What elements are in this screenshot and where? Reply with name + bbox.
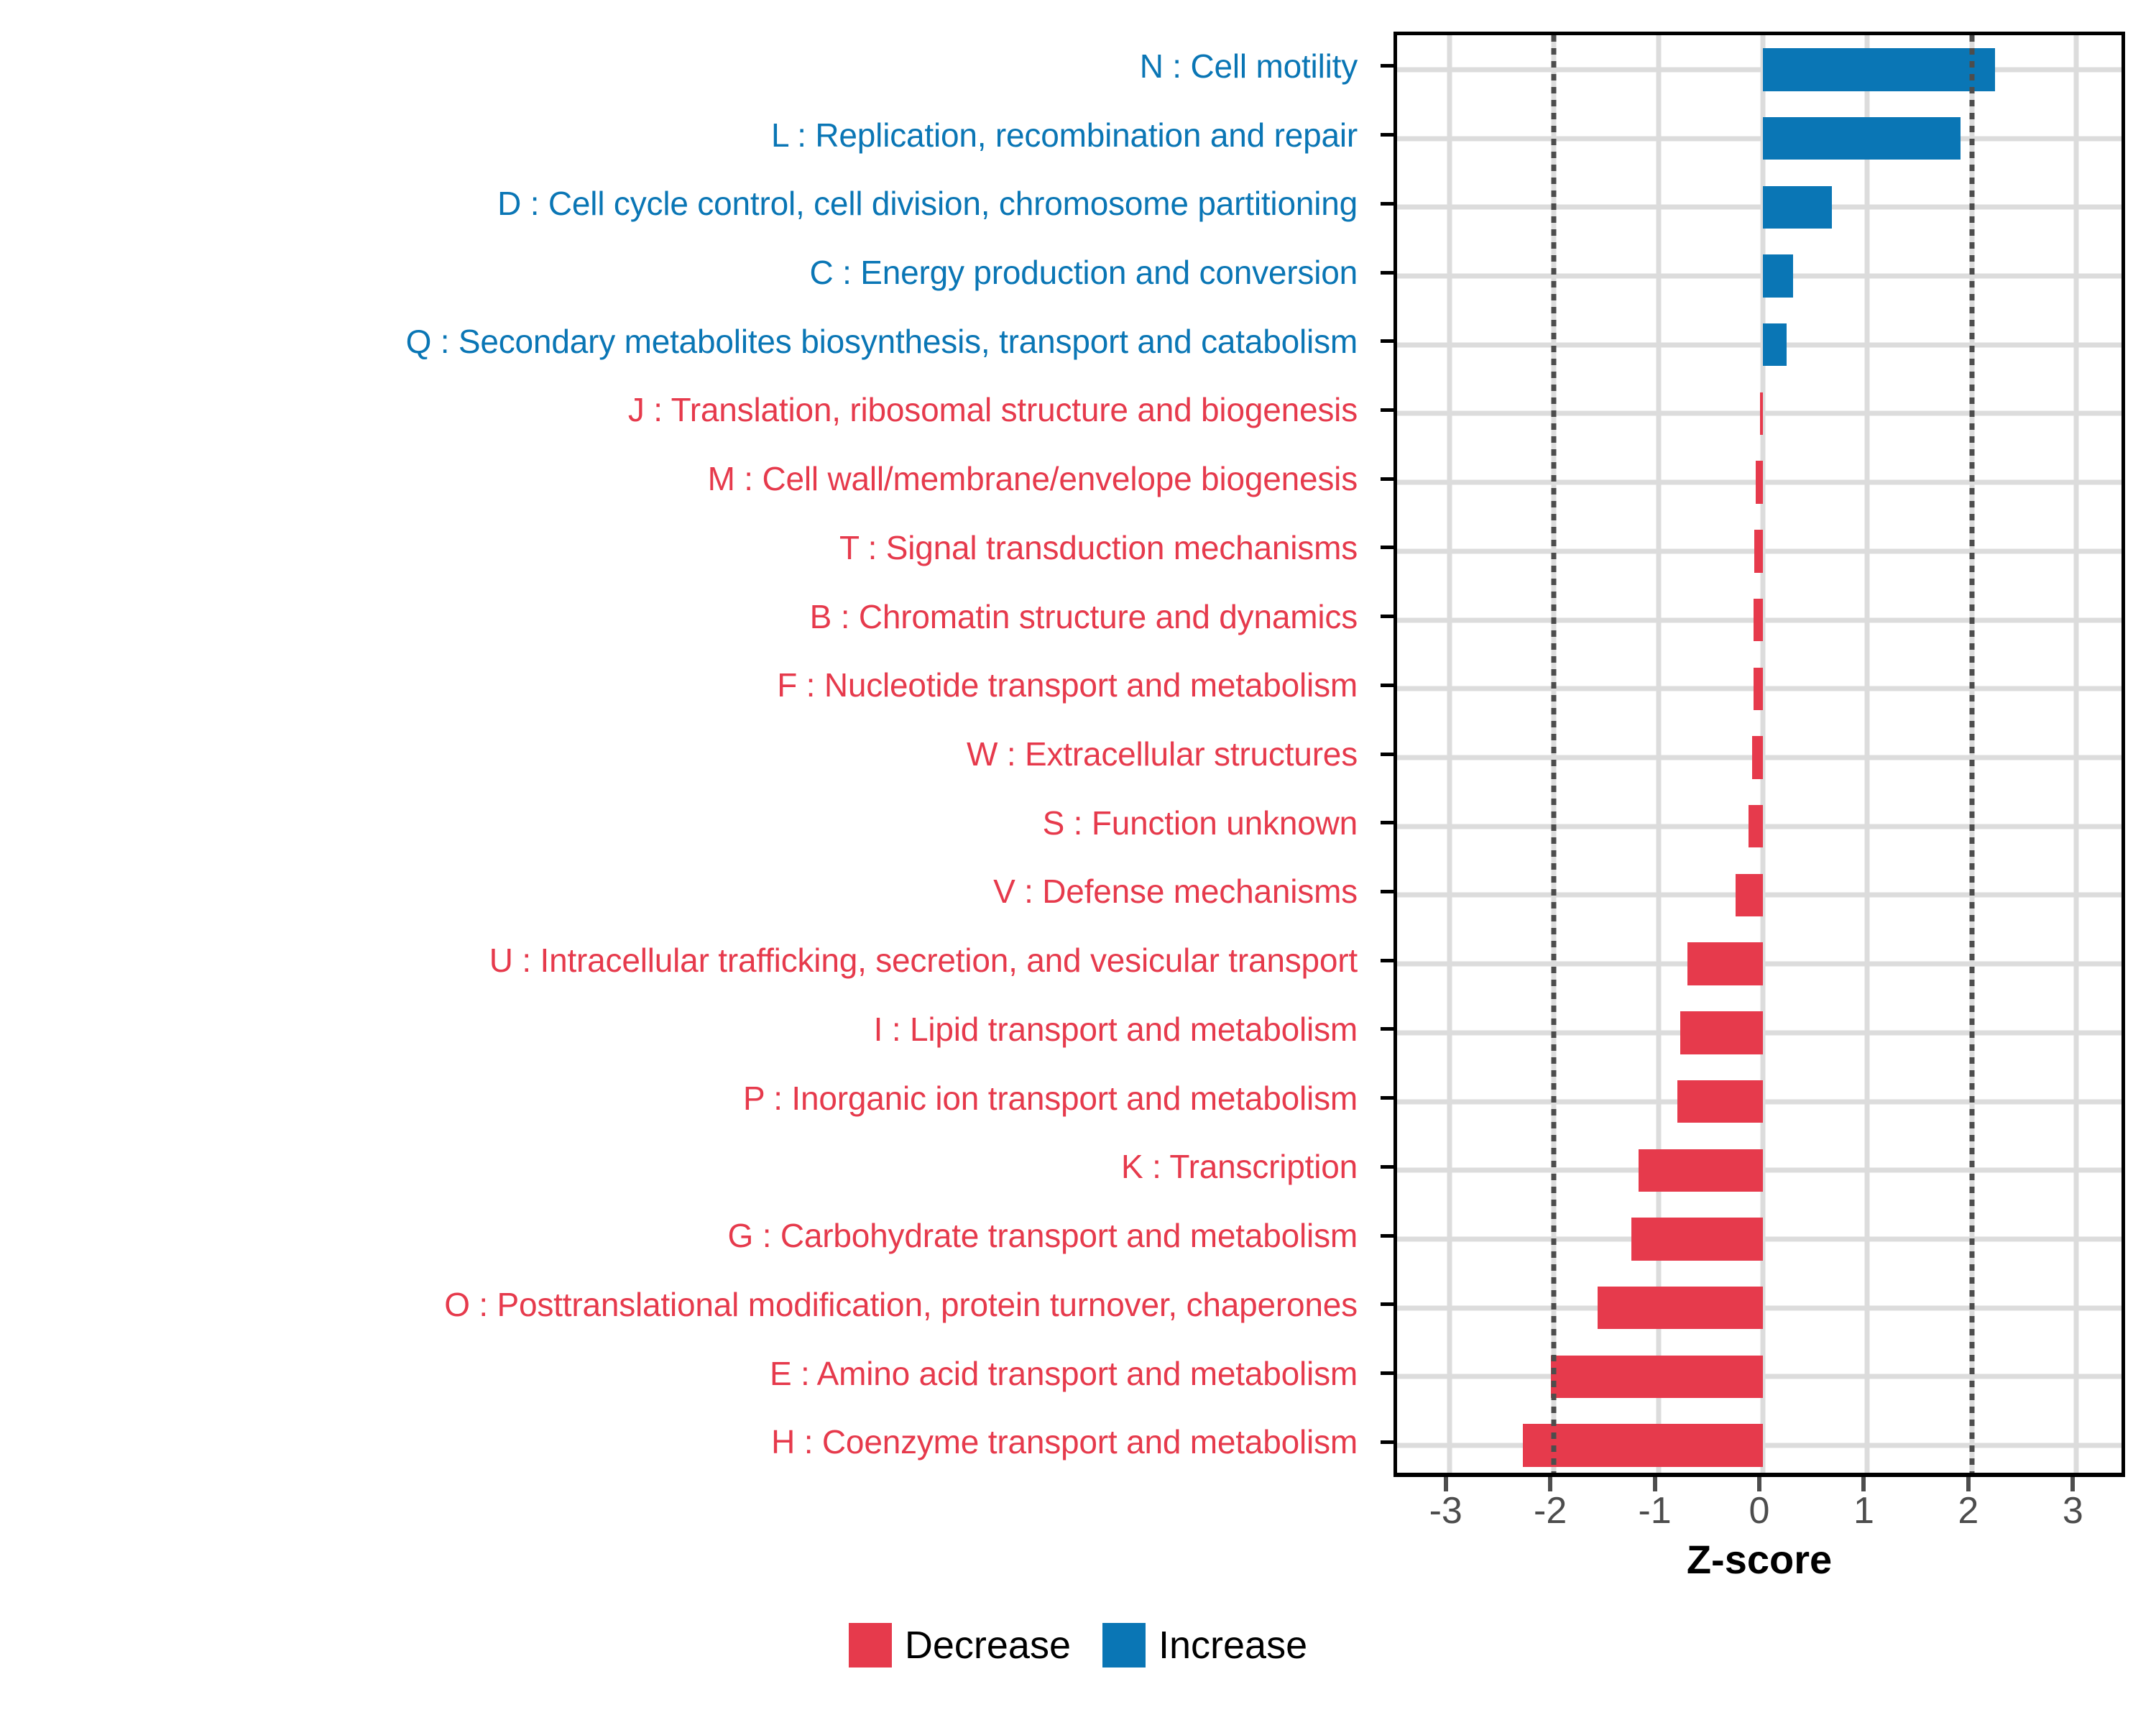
- y-axis-tick-mark: [1381, 753, 1393, 756]
- bar-layer: [1397, 35, 2122, 1473]
- plot-panel-inner: [1397, 35, 2122, 1473]
- y-axis-tick-mark: [1381, 546, 1393, 549]
- category-label: F : Nucleotide transport and metabolism: [0, 650, 1369, 719]
- category-label: W : Extracellular structures: [0, 719, 1369, 788]
- category-label: G : Carbohydrate transport and metabolis…: [0, 1201, 1369, 1270]
- y-axis-tick: [1381, 32, 1393, 101]
- y-axis-tick-mark: [1381, 64, 1393, 68]
- y-axis-tick-mark: [1381, 1096, 1393, 1100]
- category-label: T : Signal transduction mechanisms: [0, 513, 1369, 582]
- x-axis-tick: [2070, 1477, 2075, 1491]
- bar: [1756, 461, 1763, 503]
- y-axis-tick: [1381, 238, 1393, 307]
- y-axis-tick-mark: [1381, 339, 1393, 343]
- bar: [1763, 254, 1793, 297]
- bar: [1763, 117, 1961, 160]
- y-axis-tick: [1381, 513, 1393, 582]
- category-label: C : Energy production and conversion: [0, 238, 1369, 307]
- bar: [1754, 599, 1763, 641]
- y-axis-tick-mark: [1381, 1371, 1393, 1375]
- category-label-column: N : Cell motilityL : Replication, recomb…: [0, 32, 1369, 1476]
- category-label: E : Amino acid transport and metabolism: [0, 1339, 1369, 1408]
- legend: DecreaseIncrease: [0, 1623, 2156, 1667]
- bar: [1680, 1011, 1763, 1054]
- y-axis-tick-mark: [1381, 477, 1393, 481]
- bar: [1749, 805, 1763, 847]
- y-axis-tick-mark: [1381, 1234, 1393, 1238]
- legend-item[interactable]: Increase: [1102, 1623, 1307, 1667]
- category-label: P : Inorganic ion transport and metaboli…: [0, 1064, 1369, 1133]
- bar-slot: [1397, 1080, 2122, 1123]
- x-axis-tick-label: 1: [1820, 1492, 1907, 1529]
- y-axis-tick-mark: [1381, 821, 1393, 824]
- category-label: U : Intracellular trafficking, secretion…: [0, 926, 1369, 995]
- bar-slot: [1397, 117, 2122, 160]
- x-axis-title: Z-score: [1393, 1540, 2125, 1580]
- y-axis-tick-column: [1381, 32, 1393, 1476]
- reference-line: [1969, 35, 1974, 1473]
- category-label: K : Transcription: [0, 1133, 1369, 1202]
- y-axis-tick: [1381, 1407, 1393, 1476]
- bar: [1763, 48, 1995, 91]
- bar: [1763, 323, 1787, 366]
- x-axis-tick: [1757, 1477, 1761, 1491]
- cog-zscore-bar-chart: N : Cell motilityL : Replication, recomb…: [0, 0, 2156, 1725]
- bar-slot: [1397, 1424, 2122, 1466]
- y-axis-tick-mark: [1381, 1302, 1393, 1306]
- category-label: V : Defense mechanisms: [0, 857, 1369, 926]
- y-axis-tick: [1381, 1201, 1393, 1270]
- bar: [1523, 1424, 1763, 1466]
- y-axis-tick-mark: [1381, 959, 1393, 962]
- bar: [1754, 668, 1763, 710]
- legend-swatch: [1102, 1623, 1146, 1667]
- category-label: B : Chromatin structure and dynamics: [0, 582, 1369, 651]
- category-label: I : Lipid transport and metabolism: [0, 995, 1369, 1064]
- y-axis-tick-mark: [1381, 1165, 1393, 1169]
- bar: [1763, 186, 1832, 229]
- y-axis-tick: [1381, 444, 1393, 513]
- category-label: D : Cell cycle control, cell division, c…: [0, 169, 1369, 238]
- bar-slot: [1397, 1287, 2122, 1329]
- category-label: H : Coenzyme transport and metabolism: [0, 1407, 1369, 1476]
- bar-slot: [1397, 1011, 2122, 1054]
- x-axis-tick: [1548, 1477, 1552, 1491]
- legend-label: Decrease: [905, 1626, 1071, 1665]
- bar-slot: [1397, 1149, 2122, 1192]
- bar: [1598, 1287, 1763, 1329]
- category-label: N : Cell motility: [0, 32, 1369, 101]
- y-axis-tick: [1381, 857, 1393, 926]
- category-label: S : Function unknown: [0, 788, 1369, 857]
- y-axis-tick: [1381, 926, 1393, 995]
- bar: [1551, 1356, 1763, 1398]
- bar-slot: [1397, 668, 2122, 710]
- x-axis-tick-label: 2: [1925, 1492, 2012, 1529]
- y-axis-tick-mark: [1381, 408, 1393, 412]
- bar: [1752, 736, 1763, 778]
- y-axis-tick-mark: [1381, 1440, 1393, 1444]
- category-label: Q : Secondary metabolites biosynthesis, …: [0, 307, 1369, 376]
- legend-label: Increase: [1158, 1626, 1307, 1665]
- y-axis-tick-mark: [1381, 271, 1393, 275]
- category-label: M : Cell wall/membrane/envelope biogenes…: [0, 444, 1369, 513]
- bar-slot: [1397, 1218, 2122, 1260]
- bar-slot: [1397, 323, 2122, 366]
- bar-slot: [1397, 942, 2122, 985]
- x-axis-tick-label: 0: [1716, 1492, 1802, 1529]
- bar-slot: [1397, 599, 2122, 641]
- y-axis-tick-mark: [1381, 684, 1393, 687]
- category-label: O : Posttranslational modification, prot…: [0, 1270, 1369, 1339]
- bar-slot: [1397, 805, 2122, 847]
- bar: [1639, 1149, 1763, 1192]
- y-axis-tick-mark: [1381, 202, 1393, 206]
- legend-swatch: [849, 1623, 892, 1667]
- x-axis-tick-label: -2: [1507, 1492, 1593, 1529]
- y-axis-tick: [1381, 582, 1393, 651]
- legend-item[interactable]: Decrease: [849, 1623, 1071, 1667]
- bar-slot: [1397, 1356, 2122, 1398]
- y-axis-tick: [1381, 719, 1393, 788]
- bar: [1760, 392, 1763, 435]
- x-axis-ticks: [1393, 1477, 2125, 1491]
- x-axis-tick-label: 3: [2030, 1492, 2116, 1529]
- y-axis-tick: [1381, 1064, 1393, 1133]
- category-label: L : Replication, recombination and repai…: [0, 101, 1369, 170]
- y-axis-tick: [1381, 1339, 1393, 1408]
- x-axis-tick: [1861, 1477, 1866, 1491]
- bar-slot: [1397, 392, 2122, 435]
- y-axis-tick-mark: [1381, 890, 1393, 893]
- x-axis-tick: [1653, 1477, 1657, 1491]
- bar-slot: [1397, 48, 2122, 91]
- y-axis-tick: [1381, 995, 1393, 1064]
- category-label: J : Translation, ribosomal structure and…: [0, 376, 1369, 445]
- bar-slot: [1397, 530, 2122, 572]
- bar: [1631, 1218, 1763, 1260]
- x-axis-tick: [1444, 1477, 1448, 1491]
- y-axis-tick: [1381, 788, 1393, 857]
- y-axis-tick: [1381, 169, 1393, 238]
- bar-slot: [1397, 254, 2122, 297]
- bar-slot: [1397, 874, 2122, 916]
- x-axis-tick-label: -1: [1612, 1492, 1698, 1529]
- reference-line: [1552, 35, 1557, 1473]
- y-axis-tick-mark: [1381, 1027, 1393, 1031]
- y-axis-tick-mark: [1381, 615, 1393, 618]
- bar-slot: [1397, 461, 2122, 503]
- bar: [1754, 530, 1763, 572]
- x-axis-tick-label: -3: [1403, 1492, 1489, 1529]
- y-axis-tick: [1381, 650, 1393, 719]
- plot-panel: [1393, 32, 2125, 1476]
- bar-slot: [1397, 736, 2122, 778]
- x-axis-tick: [1966, 1477, 1971, 1491]
- bar: [1736, 874, 1763, 916]
- y-axis-tick: [1381, 1133, 1393, 1202]
- y-axis-tick: [1381, 376, 1393, 445]
- y-axis-tick-mark: [1381, 133, 1393, 137]
- x-axis-tick-labels: -3-2-10123: [1393, 1492, 2125, 1535]
- y-axis-tick: [1381, 1270, 1393, 1339]
- bar: [1677, 1080, 1763, 1123]
- y-axis-tick: [1381, 307, 1393, 376]
- bar: [1687, 942, 1763, 985]
- bar-slot: [1397, 186, 2122, 229]
- y-axis-tick: [1381, 101, 1393, 170]
